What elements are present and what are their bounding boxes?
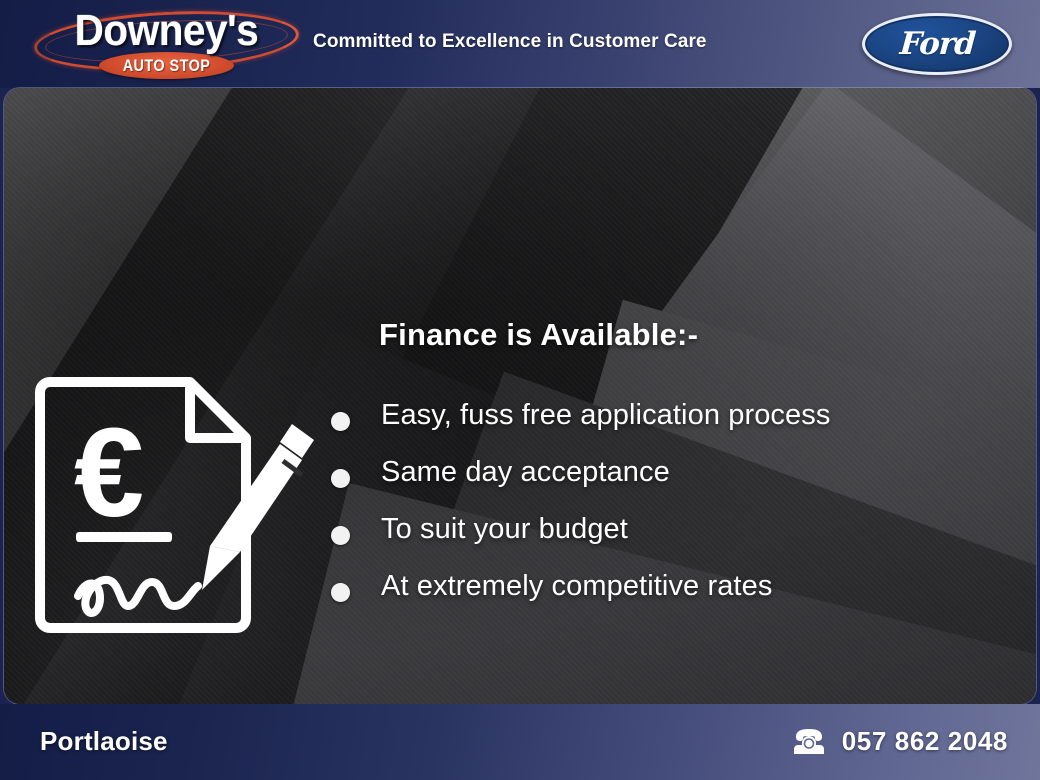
signature-squiggle	[78, 580, 198, 613]
list-item: To suit your budget	[331, 517, 1021, 574]
bullet-dot-icon	[331, 412, 350, 431]
list-item: Easy, fuss free application process	[331, 403, 1021, 460]
ford-logo-text: Ford	[898, 26, 976, 62]
benefits-list: Easy, fuss free application process Same…	[331, 403, 1021, 631]
list-item-label: Same day acceptance	[381, 456, 670, 489]
bullet-dot-icon	[331, 583, 350, 602]
logo-name: Downey's	[45, 6, 289, 56]
pen-icon	[202, 424, 314, 590]
footer-bar: Portlaoise 057 862 2048	[0, 704, 1040, 780]
logo-subtitle: AUTO STOP	[109, 56, 224, 76]
list-item: Same day acceptance	[331, 460, 1021, 517]
list-item: At extremely competitive rates	[331, 574, 1021, 631]
bullet-dot-icon	[331, 526, 350, 545]
page-title: Finance is Available:-	[379, 317, 698, 353]
dealer-logo[interactable]: Downey's AUTO STOP	[34, 4, 299, 86]
list-item-label: Easy, fuss free application process	[381, 399, 830, 432]
telephone-icon	[792, 728, 826, 756]
advert-page: Downey's AUTO STOP Committed to Excellen…	[0, 0, 1040, 780]
list-item-label: At extremely competitive rates	[381, 570, 772, 603]
ford-logo[interactable]: Ford	[862, 13, 1012, 75]
bullet-dot-icon	[331, 469, 350, 488]
tagline: Committed to Excellence in Customer Care	[313, 31, 707, 53]
header-bar: Downey's AUTO STOP Committed to Excellen…	[0, 0, 1040, 88]
phone-number: 057 862 2048	[842, 726, 1008, 757]
document-line	[76, 532, 172, 542]
list-item-label: To suit your budget	[381, 513, 628, 546]
promo-card: € Finance is Available:- Easy, fuss free…	[4, 88, 1036, 704]
contact-phone[interactable]: 057 862 2048	[792, 726, 1008, 757]
branch-location: Portlaoise	[40, 726, 168, 757]
finance-document-signature-icon: €	[34, 364, 324, 654]
euro-symbol: €	[74, 402, 144, 543]
